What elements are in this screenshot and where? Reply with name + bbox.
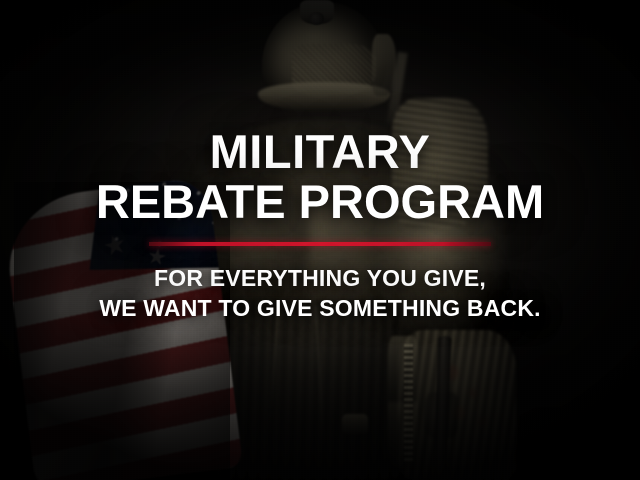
subtitle-line-1: FOR EVERYTHING YOU GIVE, <box>99 263 541 293</box>
banner-subtitle: FOR EVERYTHING YOU GIVE, WE WANT TO GIVE… <box>99 263 541 324</box>
headline-line-2: REBATE PROGRAM <box>96 175 544 229</box>
military-rebate-banner: ★ ★ ★ MILITARY REBATE PROGRAM FOR EVERYT… <box>0 0 640 480</box>
subtitle-line-2: WE WANT TO GIVE SOMETHING BACK. <box>99 293 541 323</box>
page-title: MILITARY REBATE PROGRAM <box>96 128 544 229</box>
headline-line-1: MILITARY <box>96 128 544 175</box>
red-divider-rule <box>149 242 491 246</box>
banner-content: MILITARY REBATE PROGRAM FOR EVERYTHING Y… <box>0 0 640 480</box>
